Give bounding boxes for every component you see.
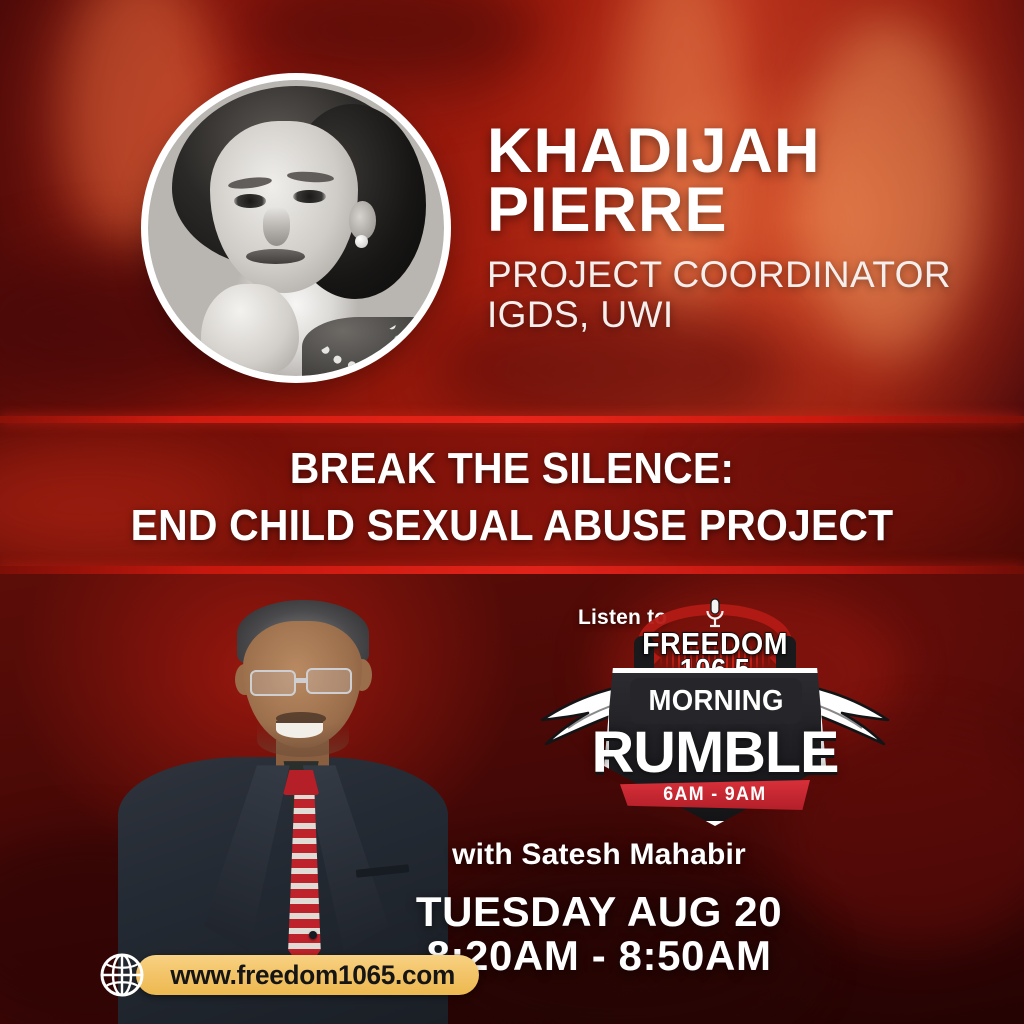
globe-icon — [96, 949, 148, 1001]
guest-avatar — [148, 80, 444, 376]
website-pill[interactable]: www.freedom1065.com — [136, 955, 479, 995]
guest-first-name: KHADIJAH — [487, 122, 997, 181]
website-badge[interactable]: www.freedom1065.com — [96, 950, 479, 1000]
morning-rumble-logo: MORNING RUMBLE 6AM - 9AM — [546, 662, 884, 828]
microphone-icon — [703, 598, 727, 628]
guest-photo — [148, 80, 444, 376]
host-credit: with Satesh Mahabir — [0, 838, 1024, 872]
band-divider-bottom — [0, 566, 1024, 574]
guest-panel: KHADIJAH PIERRE PROJECT COORDINATOR IGDS… — [0, 0, 1024, 422]
project-title: BREAK THE SILENCE: END CHILD SEXUAL ABUS… — [0, 440, 1024, 554]
nose-shape — [263, 207, 290, 245]
smile-shape — [276, 721, 322, 738]
eye-shape — [234, 194, 267, 208]
program-word1-box: MORNING — [630, 678, 802, 724]
promo-poster: KHADIJAH PIERRE PROJECT COORDINATOR IGDS… — [0, 0, 1024, 1024]
program-hours-ribbon: 6AM - 9AM — [620, 780, 810, 810]
hand-shape — [201, 284, 299, 373]
project-title-line1: BREAK THE SILENCE: — [36, 440, 988, 497]
eyeglasses-bridge-shape — [295, 678, 308, 683]
band-divider-top — [0, 416, 1024, 423]
program-hours: 6AM - 9AM — [663, 784, 766, 806]
broadcast-date: TUESDAY AUG 20 — [0, 888, 1024, 936]
eye-shape — [293, 190, 326, 204]
guest-role-line1: PROJECT COORDINATOR — [487, 255, 997, 295]
guest-last-name: PIERRE — [487, 181, 997, 240]
ear-shape — [349, 201, 376, 239]
project-title-line2: END CHILD SEXUAL ABUSE PROJECT — [36, 497, 988, 554]
program-word1: MORNING — [648, 687, 783, 716]
program-word2: RUMBLE — [543, 724, 888, 782]
guest-role-line2: IGDS, UWI — [487, 295, 997, 335]
cloud — [240, 0, 540, 90]
website-url: www.freedom1065.com — [170, 960, 455, 991]
eyeglasses-lens-shape — [306, 668, 352, 694]
lips-shape — [246, 249, 305, 264]
eyeglasses-lens-shape — [250, 670, 296, 696]
guest-details: KHADIJAH PIERRE PROJECT COORDINATOR IGDS… — [487, 122, 997, 334]
